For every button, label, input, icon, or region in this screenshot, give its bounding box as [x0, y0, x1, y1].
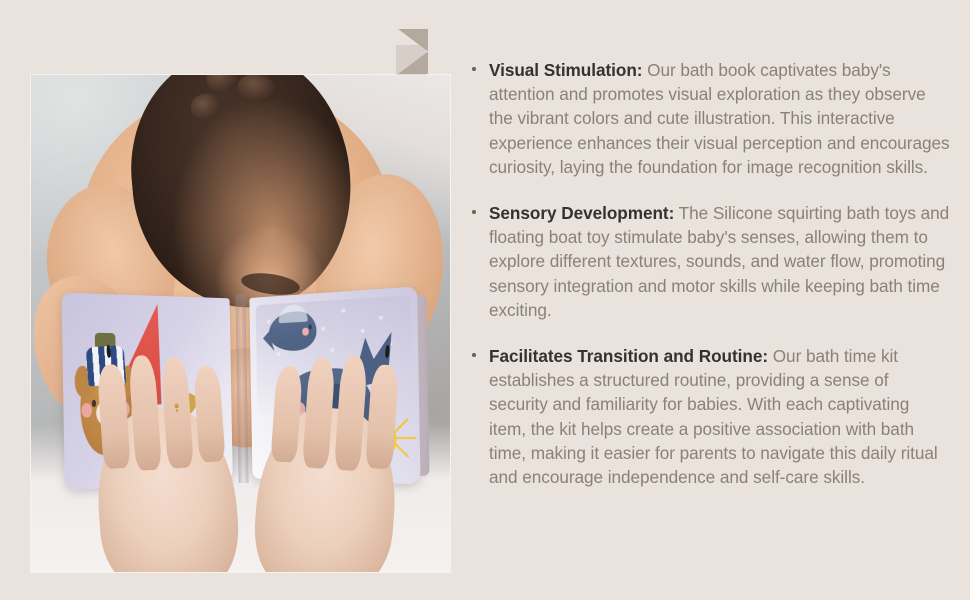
adult-hand-left	[92, 403, 242, 572]
bullet-body: Sensory Development: The Silicone squirt…	[489, 201, 950, 322]
benefits-list: Visual Stimulation: Our bath book captiv…	[472, 58, 950, 511]
bullet-marker-icon	[472, 201, 489, 322]
whale-cheek	[301, 327, 308, 336]
whale-eye	[308, 324, 311, 328]
section-title-ribbon: DEVELOPMENTAL VALUES	[0, 29, 428, 74]
adult-hand-right	[251, 403, 401, 572]
gold-ring	[175, 403, 179, 408]
bear-cheek-left	[81, 402, 91, 417]
bullet-lead: Sensory Development:	[489, 203, 674, 223]
book-spine	[235, 294, 247, 483]
bullet-marker-icon	[472, 58, 489, 179]
bullet-body: Facilitates Transition and Routine: Our …	[489, 344, 950, 489]
bullet-description: Our bath time kit establishes a structur…	[489, 346, 938, 487]
hair-detail	[235, 75, 278, 106]
list-item: Sensory Development: The Silicone squirt…	[472, 201, 950, 322]
product-photo	[31, 75, 450, 572]
product-feature-panel: DEVELOPMENTAL VALUES Visual Stimulation:…	[0, 0, 970, 600]
bear-eye-left	[91, 399, 95, 406]
hair-detail	[188, 92, 223, 123]
list-item: Facilitates Transition and Routine: Our …	[472, 344, 950, 489]
bullet-body: Visual Stimulation: Our bath book captiv…	[489, 58, 950, 179]
bullet-lead: Visual Stimulation:	[489, 60, 642, 80]
list-item: Visual Stimulation: Our bath book captiv…	[472, 58, 950, 179]
page-title: DEVELOPMENTAL VALUES	[0, 36, 385, 67]
bullet-lead: Facilitates Transition and Routine:	[489, 346, 768, 366]
bullet-marker-icon	[472, 344, 489, 489]
